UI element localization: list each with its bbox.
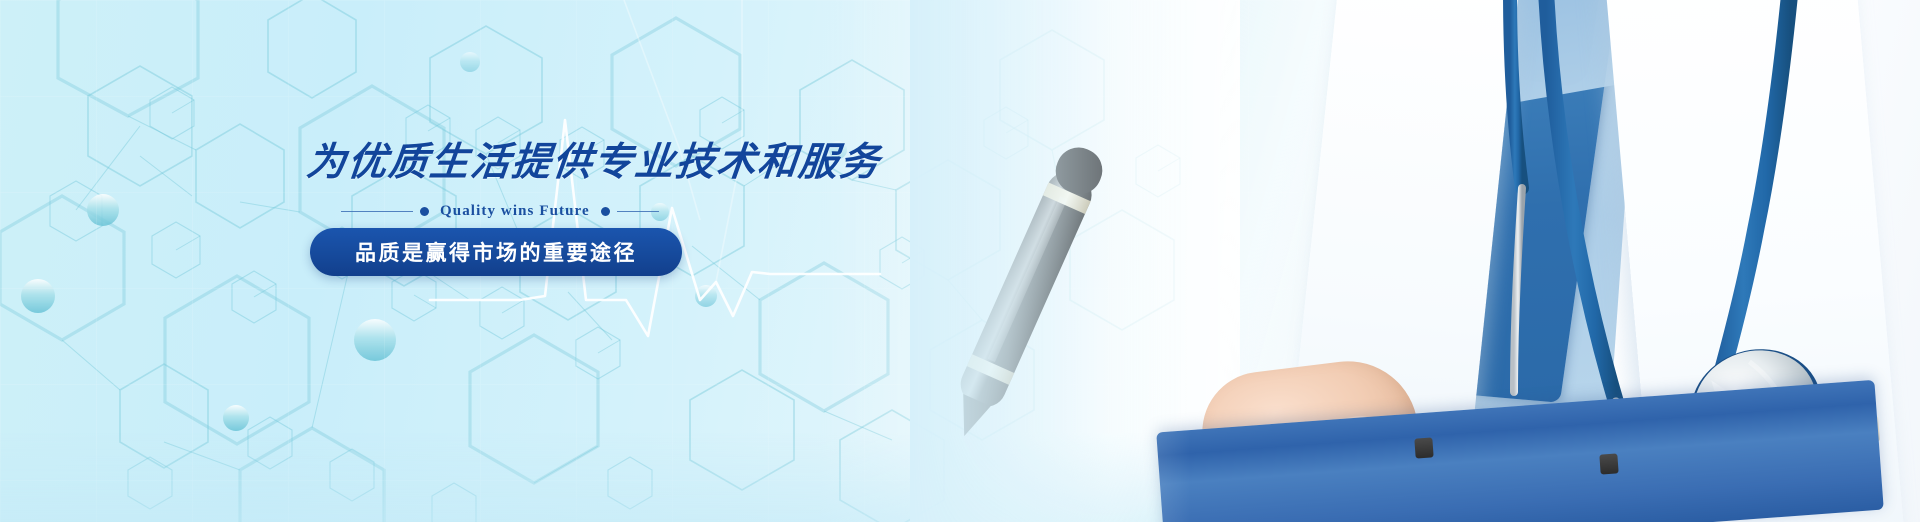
hero-content: 为优质生活提供专业技术和服务 Quality wins Future 品质是赢得… <box>0 0 840 522</box>
slogan-divider: Quality wins Future <box>341 200 686 222</box>
divider-rule-right <box>617 211 659 212</box>
page-title: 为优质生活提供专业技术和服务 <box>304 131 884 187</box>
slogan-english: Quality wins Future <box>436 203 594 220</box>
clipboard-clip <box>1414 437 1433 458</box>
bullet-dot-icon <box>420 207 429 216</box>
doctor-photo <box>910 0 1920 522</box>
bullet-dot-icon <box>601 207 610 216</box>
clipboard-clip <box>1599 453 1618 474</box>
slogan-pill-label: 品质是赢得市场的重要途径 <box>355 237 637 267</box>
medical-hero-banner: 为优质生活提供专业技术和服务 Quality wins Future 品质是赢得… <box>0 0 1920 522</box>
slogan-pill-button[interactable]: 品质是赢得市场的重要途径 <box>310 228 682 276</box>
divider-rule-left <box>341 211 413 212</box>
